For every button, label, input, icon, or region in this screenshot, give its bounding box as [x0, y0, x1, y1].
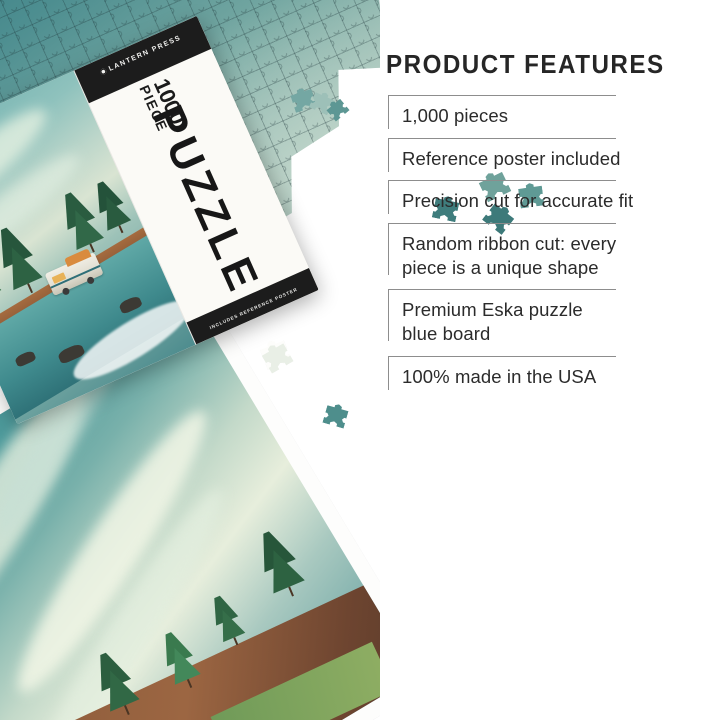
feature-tick — [388, 138, 389, 172]
poster-pine-tree — [251, 525, 309, 602]
feature-divider — [388, 289, 616, 290]
feature-divider — [388, 223, 616, 224]
feature-item: 1,000 pieces — [386, 95, 720, 138]
feature-label: 1,000 pieces — [402, 104, 720, 128]
feature-divider — [388, 95, 616, 96]
feature-label: Precision cut for accurate fit — [402, 189, 720, 213]
lantern-press-logo-icon — [100, 68, 108, 76]
feature-item: Random ribbon cut: every piece is a uniq… — [386, 223, 720, 289]
feature-tick — [388, 356, 389, 390]
page-title: PRODUCT FEATURES — [386, 49, 665, 80]
feature-tick — [388, 180, 389, 214]
feature-item: Premium Eska puzzle blue board — [386, 289, 720, 355]
feature-label: Random ribbon cut: every piece is a uniq… — [402, 232, 617, 279]
feature-item: 100% made in the USA — [386, 356, 720, 399]
feature-label: Premium Eska puzzle blue board — [402, 298, 617, 345]
feature-label: Reference poster included — [402, 147, 720, 171]
feature-item: Reference poster included — [386, 138, 720, 181]
product-feature-graphic: LANTERN PRESS 1000 PIECE PUZZLE INCLUDES… — [0, 0, 720, 720]
feature-tick — [388, 289, 389, 341]
feature-tick — [388, 223, 389, 275]
feature-label: 100% made in the USA — [402, 365, 720, 389]
feature-tick — [388, 95, 389, 129]
box-pine-tree — [0, 222, 47, 299]
poster-pine-tree — [205, 592, 247, 649]
feature-list: 1,000 piecesReference poster includedPre… — [386, 95, 720, 398]
feature-divider — [388, 180, 616, 181]
feature-divider — [388, 356, 616, 357]
features-panel: PRODUCT FEATURES 1,000 piecesReference p… — [386, 0, 720, 720]
feature-divider — [388, 138, 616, 139]
feature-item: Precision cut for accurate fit — [386, 180, 720, 223]
